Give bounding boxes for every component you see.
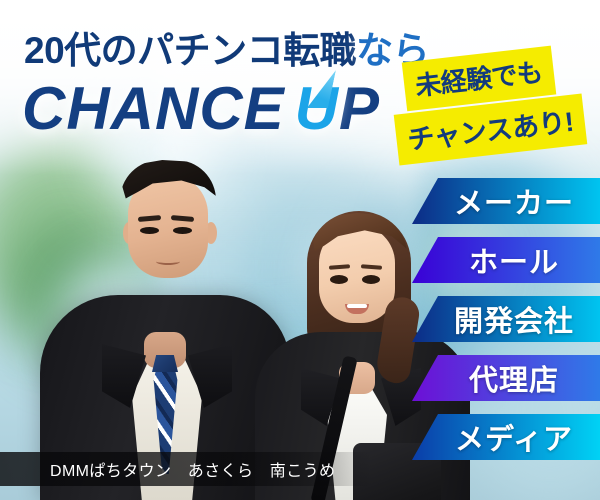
caption-text: DMMぱちタウン あさくら 南こうめ xyxy=(0,457,335,481)
tie-knot xyxy=(152,355,178,372)
category-band-list: メーカー ホール 開発会社 代理店 メディア xyxy=(412,178,600,473)
category-label: 代理店 xyxy=(453,357,559,399)
category-label: 開発会社 xyxy=(438,298,574,340)
logo-letter-u: U xyxy=(295,74,339,143)
photo-businessman xyxy=(40,150,290,500)
recruitment-banner: 20代のパチンコ転職なら CHANCEUP 未経験でも チャンスあり! メーカー… xyxy=(0,0,600,500)
category-band-hall[interactable]: ホール xyxy=(412,237,600,283)
logo-letter-p: P xyxy=(339,75,380,142)
logo-word-chance: CHANCE xyxy=(22,75,285,142)
caption-bar: DMMぱちタウン あさくら 南こうめ xyxy=(0,452,372,486)
eye-right xyxy=(173,227,192,234)
teeth xyxy=(347,304,367,308)
eye-left xyxy=(330,275,348,284)
headline: 20代のパチンコ転職なら xyxy=(24,20,429,74)
category-band-developer[interactable]: 開発会社 xyxy=(412,296,600,342)
category-label: ホール xyxy=(453,239,559,281)
category-band-agency[interactable]: 代理店 xyxy=(412,355,600,401)
category-label: メーカー xyxy=(438,180,574,222)
headline-main: 20代のパチンコ転職 xyxy=(24,30,356,71)
logo-u-text: U xyxy=(295,75,339,142)
category-band-maker[interactable]: メーカー xyxy=(412,178,600,224)
category-band-media[interactable]: メディア xyxy=(412,414,600,460)
eye-left xyxy=(140,227,159,234)
category-label: メディア xyxy=(439,416,573,458)
mouth xyxy=(156,258,180,265)
brand-logo: CHANCEUP xyxy=(22,74,380,143)
highlight-badge: 未経験でも チャンスあり! xyxy=(396,52,596,164)
eye-right xyxy=(362,275,380,284)
